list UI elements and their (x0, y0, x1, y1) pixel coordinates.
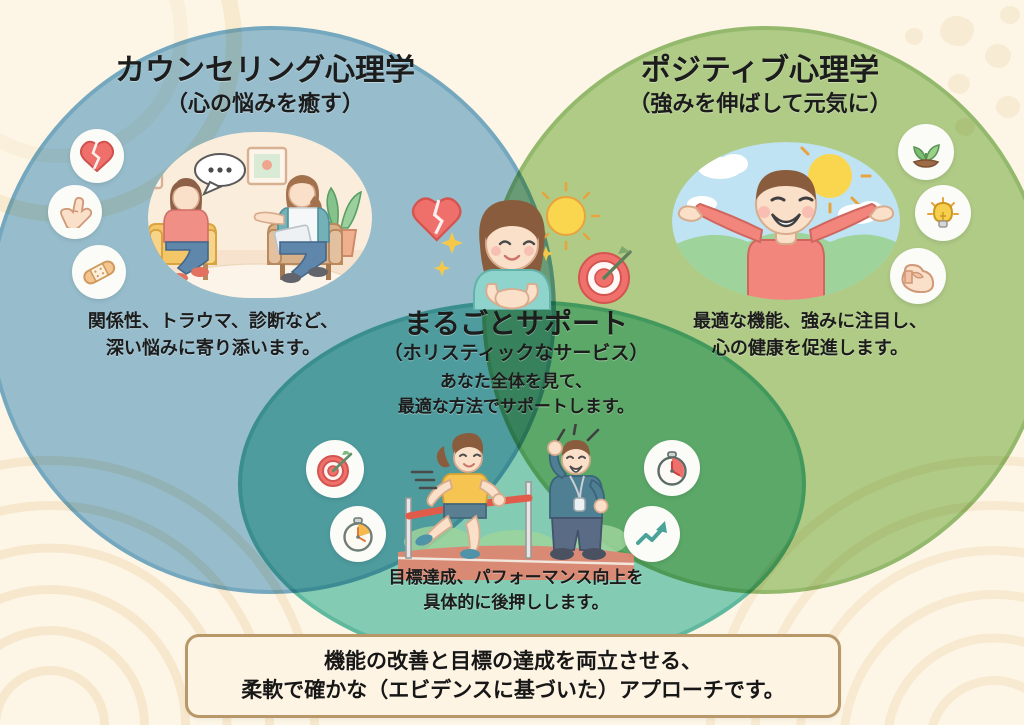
center-body: あなた全体を見て、 最適な方法でサポートします。 (336, 370, 696, 419)
bg-blob (905, 28, 923, 45)
right-circle-body-line2: 心の健康を促進します。 (650, 335, 970, 362)
bandage-icon (72, 245, 126, 299)
helping-hand-icon (48, 185, 102, 239)
center-title: まるごとサポート (336, 306, 696, 342)
left-circle-subtitle: （心の悩みを癒す） (30, 90, 500, 118)
happy-child-arms-open-illustration (672, 142, 900, 300)
broken-heart-icon (70, 129, 124, 183)
right-circle-subtitle: （強みを伸ばして元気に） (520, 90, 1000, 118)
bottom-circle-body-line2: 具体的に後押しします。 (336, 591, 696, 616)
right-circle-title: ポジティブ心理学 (520, 52, 1000, 90)
center-subtitle: （ホリスティックなサービス） (336, 342, 696, 366)
summary-banner-text: 機能の改善と目標の達成を両立させる、 柔軟で確かな（エビデンスに基づいた）アプロ… (241, 647, 784, 706)
counseling-session-illustration (148, 132, 372, 298)
summary-banner-line2: 柔軟で確かな（エビデンスに基づいた）アプローチです。 (241, 676, 784, 705)
target-arrow-icon (306, 440, 364, 498)
bg-blob (940, 16, 974, 46)
summary-banner: 機能の改善と目標の達成を両立させる、 柔軟で確かな（エビデンスに基づいた）アプロ… (185, 634, 841, 718)
bottom-circle-body: 目標達成、パフォーマンス向上を 具体的に後押しします。 (336, 566, 696, 615)
left-circle-body-line2: 深い悩みに寄り添います。 (48, 335, 378, 362)
summary-banner-line1: 機能の改善と目標の達成を両立させる、 (241, 647, 784, 676)
left-circle-title: カウンセリング心理学 (30, 52, 500, 90)
left-circle-body: 関係性、トラウマ、診断など、 深い悩みに寄り添います。 (48, 308, 378, 362)
infographic-canvas: カウンセリング心理学 （心の悩みを癒す） 関係性、トラウマ、診断など、 深い悩み… (0, 0, 1024, 725)
bg-blob (1000, 6, 1020, 24)
right-circle-body: 最適な機能、強みに注目し、 心の健康を促進します。 (650, 308, 970, 362)
center-body-line1: あなた全体を見て、 (336, 370, 696, 395)
stopwatch-green-icon (330, 506, 386, 562)
woman-hands-on-heart-illustration (380, 182, 644, 310)
stopwatch-red-icon (644, 440, 700, 496)
trending-up-arrow-icon (624, 506, 680, 562)
left-circle-body-line1: 関係性、トラウマ、診断など、 (48, 308, 378, 335)
lightbulb-icon (915, 185, 971, 241)
flexed-bicep-icon (890, 248, 946, 304)
center-body-line2: 最適な方法でサポートします。 (336, 395, 696, 420)
right-circle-body-line1: 最適な機能、強みに注目し、 (650, 308, 970, 335)
runner-finish-line-coach-illustration (398, 424, 634, 580)
bottom-circle-body-line1: 目標達成、パフォーマンス向上を (336, 566, 696, 591)
sprout-icon (898, 124, 954, 180)
